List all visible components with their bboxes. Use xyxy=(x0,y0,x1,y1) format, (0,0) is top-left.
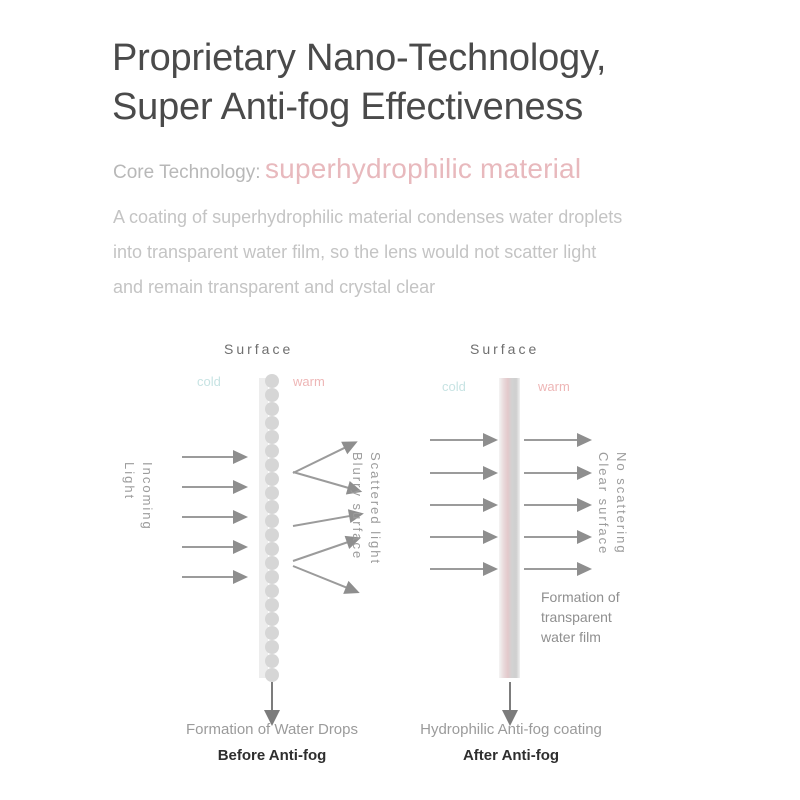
water-droplet xyxy=(265,654,279,668)
left-surface-label: Surface xyxy=(224,341,293,357)
water-film-caption: Formation of transparent water film xyxy=(541,588,620,648)
subtitle-accent: superhydrophilic material xyxy=(265,153,581,184)
water-droplet xyxy=(265,486,279,500)
no-scattering-line1: No scattering xyxy=(612,452,630,555)
water-droplet xyxy=(265,374,279,388)
water-droplet xyxy=(265,640,279,654)
incoming-light-line1: Incoming xyxy=(138,462,156,531)
subtitle: Core Technology: superhydrophilic materi… xyxy=(113,153,581,185)
left-foot-title: Before Anti-fog xyxy=(178,747,366,764)
water-droplet xyxy=(265,542,279,556)
scattered-light-line2: Blurry surface xyxy=(349,452,367,565)
water-droplet xyxy=(265,500,279,514)
water-droplet xyxy=(265,598,279,612)
water-droplet xyxy=(265,458,279,472)
left-cold-label: cold xyxy=(197,374,221,389)
right-cold-label: cold xyxy=(442,379,466,394)
body-line-1: A coating of superhydrophilic material c… xyxy=(113,200,753,235)
water-droplet xyxy=(265,570,279,584)
left-down-arrow xyxy=(264,682,280,726)
poster-canvas: Proprietary Nano-Technology, Super Anti-… xyxy=(0,0,800,800)
water-droplet xyxy=(265,388,279,402)
water-droplet xyxy=(265,626,279,640)
water-droplet xyxy=(265,416,279,430)
left-footnote: Formation of Water Drops xyxy=(178,721,366,738)
water-droplet xyxy=(265,556,279,570)
right-warm-label: warm xyxy=(538,379,570,394)
body-line-3: and remain transparent and crystal clear xyxy=(113,270,753,305)
water-film-line2: transparent xyxy=(541,608,620,628)
no-scattering-caption: No scattering Clear surface xyxy=(595,452,630,555)
left-warm-label: warm xyxy=(293,374,325,389)
water-droplet xyxy=(265,402,279,416)
right-coating-bar xyxy=(499,378,520,678)
scattered-light-caption: Scattered light Blurry surface xyxy=(349,452,384,565)
water-film-line3: water film xyxy=(541,628,620,648)
water-droplet-column xyxy=(265,374,279,682)
water-droplet xyxy=(265,514,279,528)
water-droplet xyxy=(265,444,279,458)
right-foot-title: After Anti-fog xyxy=(406,747,616,764)
water-droplet xyxy=(265,430,279,444)
scattered-arrow-5 xyxy=(293,566,367,596)
body-line-2: into transparent water film, so the lens… xyxy=(113,235,753,270)
right-surface-label: Surface xyxy=(470,341,539,357)
water-droplet xyxy=(265,472,279,486)
right-down-arrow xyxy=(502,682,518,726)
page-title-line2: Super Anti-fog Effectiveness xyxy=(112,83,752,132)
page-title-line1: Proprietary Nano-Technology, xyxy=(112,37,606,79)
subtitle-lead: Core Technology: xyxy=(113,162,261,183)
water-droplet xyxy=(265,584,279,598)
body-paragraph: A coating of superhydrophilic material c… xyxy=(113,200,753,305)
no-scattering-line2: Clear surface xyxy=(595,452,613,555)
water-droplet xyxy=(265,612,279,626)
right-footnote: Hydrophilic Anti-fog coating xyxy=(406,721,616,738)
water-droplet xyxy=(265,528,279,542)
water-droplet xyxy=(265,668,279,682)
water-film-line1: Formation of xyxy=(541,588,620,608)
scattered-light-line1: Scattered light xyxy=(366,452,384,565)
incoming-light-caption: Incoming Light xyxy=(121,462,156,531)
page-title: Proprietary Nano-Technology, Super Anti-… xyxy=(112,34,752,131)
incoming-light-line2: Light xyxy=(121,462,139,531)
